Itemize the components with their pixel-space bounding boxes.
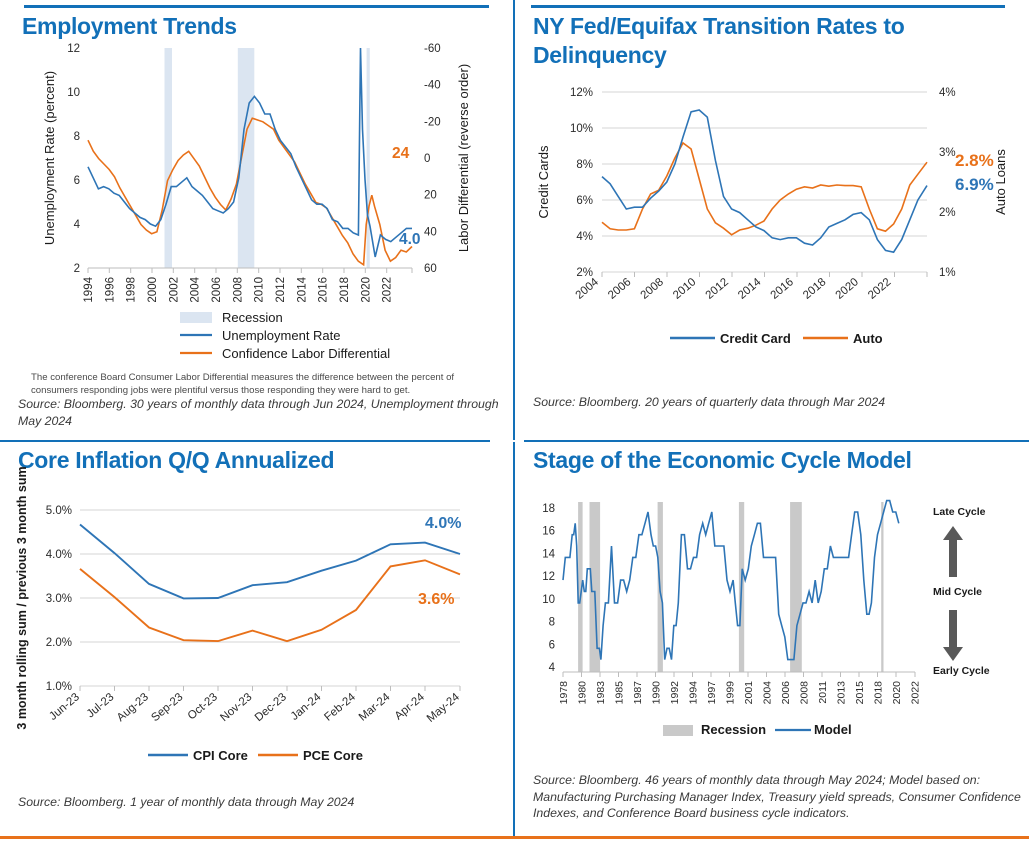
employment-footnote: The conference Board Consumer Labor Diff…: [31, 371, 491, 397]
delinquency-x-labels: 2004 2006 2008 2010 2012 2014 2016 2018 …: [574, 272, 927, 302]
svg-text:2020: 2020: [360, 277, 372, 303]
svg-text:2022: 2022: [382, 277, 394, 303]
cycle-stage-indicator: Late Cycle Mid Cycle Early Cycle: [933, 506, 990, 677]
svg-text:4%: 4%: [939, 87, 956, 99]
svg-text:2004: 2004: [574, 276, 602, 302]
svg-text:2012: 2012: [275, 277, 287, 303]
svg-text:1980: 1980: [577, 681, 589, 705]
svg-text:10%: 10%: [570, 123, 593, 135]
svg-text:40: 40: [424, 226, 437, 238]
svg-text:Nov-23: Nov-23: [218, 691, 254, 724]
svg-text:2004: 2004: [762, 681, 774, 705]
cycle-legend: Recession Model: [663, 722, 852, 737]
legend-label-confidence: Confidence Labor Differential: [222, 346, 390, 361]
employment-source: Source: Bloomberg. 30 years of monthly d…: [18, 396, 506, 429]
bottom-orange-rule: [0, 836, 1029, 839]
svg-text:Mar-24: Mar-24: [357, 691, 393, 724]
svg-text:18: 18: [542, 503, 555, 515]
svg-text:0: 0: [424, 153, 430, 165]
svg-text:1.0%: 1.0%: [46, 681, 72, 693]
svg-text:1994: 1994: [83, 276, 95, 302]
svg-text:2006: 2006: [780, 681, 792, 705]
svg-text:6%: 6%: [576, 195, 593, 207]
svg-text:1992: 1992: [669, 681, 681, 705]
cycle-left-axis: 18 16 14 12 10 8 6 4: [542, 503, 555, 674]
svg-text:2020: 2020: [891, 681, 903, 705]
inflation-callout-blue: 4.0%: [425, 515, 461, 532]
svg-text:2013: 2013: [836, 681, 848, 705]
legend-swatch-recession: [180, 312, 212, 323]
svg-text:Labor Differential (reverse or: Labor Differential (reverse order): [456, 64, 471, 252]
svg-text:1990: 1990: [651, 681, 663, 705]
svg-text:2022: 2022: [910, 681, 922, 705]
delinquency-left-axis: 12% 10% 8% 6% 4% 2% Credit Cards: [536, 87, 593, 279]
svg-text:4: 4: [549, 662, 556, 674]
svg-text:2015: 2015: [854, 681, 866, 705]
svg-text:2000: 2000: [147, 277, 159, 303]
svg-text:Jan-24: Jan-24: [289, 691, 324, 723]
delinquency-callout-orange: 2.8%: [955, 151, 994, 170]
delinquency-chart-svg: 12% 10% 8% 6% 4% 2% Credit Cards 4% 3% 2…: [515, 80, 1029, 380]
cycle-x-labels: 1978 1980 1983 1985 1987 1990 1992 1994 …: [558, 672, 922, 704]
employment-chart-svg: 12 10 8 6 4 2 Unemployment Rate (percent…: [0, 36, 513, 366]
svg-text:1998: 1998: [126, 277, 138, 303]
svg-text:2018: 2018: [873, 681, 885, 705]
infographic-sheet: Employment Trends 12 10 8 6 4 2 Unemplo: [0, 0, 1029, 843]
employment-x-labels: 1994 1996 1998 2000 2002 2004 2006 2008 …: [83, 276, 394, 302]
svg-text:12: 12: [67, 43, 80, 55]
svg-text:Auto Loans: Auto Loans: [993, 149, 1008, 215]
series-auto: [602, 143, 927, 235]
svg-text:Jul-23: Jul-23: [85, 691, 117, 720]
legend-label-cpi-core: CPI Core: [193, 748, 248, 763]
svg-text:2016: 2016: [318, 277, 330, 303]
svg-text:4.0%: 4.0%: [46, 549, 72, 561]
legend-label-recession: Recession: [222, 310, 283, 325]
legend-label-pce-core: PCE Core: [303, 748, 363, 763]
svg-text:2004: 2004: [190, 276, 202, 302]
employment-callout-blue: 4.0: [399, 231, 421, 248]
employment-recession-bands: [165, 48, 370, 268]
svg-text:1987: 1987: [632, 681, 644, 705]
svg-text:1994: 1994: [688, 681, 700, 705]
svg-text:May-24: May-24: [425, 691, 463, 725]
stage-label-late: Late Cycle: [933, 506, 986, 518]
svg-text:2020: 2020: [834, 276, 861, 302]
svg-text:1985: 1985: [614, 681, 626, 705]
legend-label-credit-card: Credit Card: [720, 331, 791, 346]
svg-text:10: 10: [542, 594, 555, 606]
svg-text:5.0%: 5.0%: [46, 505, 72, 517]
employment-chart: 12 10 8 6 4 2 Unemployment Rate (percent…: [0, 36, 513, 366]
svg-text:8: 8: [74, 131, 80, 143]
svg-text:Feb-24: Feb-24: [322, 691, 358, 724]
svg-text:1997: 1997: [706, 681, 718, 705]
series-cpi-core: [80, 525, 460, 599]
svg-text:2008: 2008: [232, 277, 244, 303]
svg-text:20: 20: [424, 190, 437, 202]
svg-text:1999: 1999: [725, 681, 737, 705]
svg-text:2.0%: 2.0%: [46, 637, 72, 649]
svg-text:2018: 2018: [339, 277, 351, 303]
svg-text:6: 6: [74, 175, 80, 187]
svg-text:2002: 2002: [168, 277, 180, 303]
employment-x-ticks: [88, 268, 412, 273]
employment-legend: Recession Unemployment Rate Confidence L…: [180, 310, 390, 361]
svg-text:1%: 1%: [939, 267, 956, 279]
panel-core-inflation: Core Inflation Q/Q Annualized 5.0% 4.0% …: [0, 442, 513, 836]
svg-text:3.0%: 3.0%: [46, 593, 72, 605]
legend-label-auto: Auto: [853, 331, 883, 346]
employment-left-axis: 12 10 8 6 4 2 Unemployment Rate (percent…: [42, 43, 81, 275]
svg-text:12%: 12%: [570, 87, 593, 99]
inflation-x-labels: Jun-23 Jul-23 Aug-23 Sep-23 Oct-23 Nov-2…: [47, 686, 462, 725]
inflation-left-axis: 5.0% 4.0% 3.0% 2.0% 1.0% 3 month rolling…: [15, 466, 72, 729]
delinquency-gridlines: [602, 92, 927, 272]
employment-right-axis: -60 -40 -20 0 20 40 60 Labor Differentia…: [424, 43, 471, 275]
legend-label-recession-cycle: Recession: [701, 722, 766, 737]
svg-text:2016: 2016: [769, 276, 796, 302]
svg-text:12: 12: [542, 571, 555, 583]
svg-text:4%: 4%: [576, 231, 593, 243]
inflation-source: Source: Bloomberg. 1 year of monthly dat…: [18, 794, 498, 811]
panel-economic-cycle: Stage of the Economic Cycle Model 18 16 …: [515, 442, 1029, 836]
svg-text:60: 60: [424, 263, 437, 275]
legend-label-unemployment: Unemployment Rate: [222, 328, 341, 343]
svg-text:3%: 3%: [939, 147, 956, 159]
svg-text:6: 6: [549, 639, 555, 651]
svg-text:Credit Cards: Credit Cards: [536, 145, 551, 218]
svg-text:2006: 2006: [606, 276, 633, 302]
svg-text:Dec-23: Dec-23: [253, 691, 289, 724]
stage-arrow-down: [943, 610, 963, 661]
svg-text:2018: 2018: [801, 276, 828, 302]
delinquency-title: NY Fed/Equifax Transition Rates to Delin…: [515, 8, 1029, 70]
delinquency-source: Source: Bloomberg. 20 years of quarterly…: [533, 394, 1013, 411]
svg-text:2010: 2010: [254, 277, 266, 303]
svg-text:Aug-23: Aug-23: [115, 691, 151, 724]
svg-text:-20: -20: [424, 116, 441, 128]
svg-text:2014: 2014: [296, 276, 308, 302]
svg-text:Jun-23: Jun-23: [47, 691, 82, 723]
delinquency-callout-blue: 6.9%: [955, 175, 994, 194]
legend-swatch-recession-cycle: [663, 725, 693, 736]
svg-text:1983: 1983: [595, 681, 607, 705]
employment-callout-orange: 24: [392, 145, 410, 162]
svg-text:8: 8: [549, 617, 555, 629]
cycle-chart-svg: 18 16 14 12 10 8 6 4: [515, 482, 1029, 742]
inflation-chart-svg: 5.0% 4.0% 3.0% 2.0% 1.0% 3 month rolling…: [0, 486, 513, 776]
cycle-source: Source: Bloomberg. 46 years of monthly d…: [533, 772, 1028, 822]
svg-text:2%: 2%: [939, 207, 956, 219]
svg-text:4: 4: [74, 219, 81, 231]
svg-text:Apr-24: Apr-24: [393, 691, 428, 723]
svg-text:1996: 1996: [104, 277, 116, 303]
svg-text:2022: 2022: [866, 276, 893, 302]
svg-text:2: 2: [74, 263, 80, 275]
svg-text:Sep-23: Sep-23: [149, 691, 185, 724]
svg-text:-60: -60: [424, 43, 441, 55]
svg-text:10: 10: [67, 87, 80, 99]
series-credit-card: [602, 110, 927, 252]
svg-text:8%: 8%: [576, 159, 593, 171]
stage-label-early: Early Cycle: [933, 665, 990, 677]
svg-text:2001: 2001: [743, 681, 755, 705]
svg-text:2012: 2012: [704, 276, 731, 302]
svg-text:2010: 2010: [671, 276, 698, 302]
svg-text:2008: 2008: [639, 276, 666, 302]
panel-delinquency: NY Fed/Equifax Transition Rates to Delin…: [515, 8, 1029, 440]
svg-text:2014: 2014: [736, 276, 764, 302]
legend-label-model: Model: [814, 722, 852, 737]
cycle-chart: 18 16 14 12 10 8 6 4: [515, 482, 1029, 742]
cycle-title: Stage of the Economic Cycle Model: [515, 442, 1029, 475]
inflation-chart: 5.0% 4.0% 3.0% 2.0% 1.0% 3 month rolling…: [0, 486, 513, 776]
svg-text:2011: 2011: [817, 681, 829, 704]
svg-text:2008: 2008: [799, 681, 811, 705]
panel-employment-trends: Employment Trends 12 10 8 6 4 2 Unemplo: [0, 8, 513, 440]
inflation-gridlines: [80, 510, 460, 686]
svg-text:2006: 2006: [211, 277, 223, 303]
svg-text:1978: 1978: [558, 681, 570, 705]
svg-text:16: 16: [542, 526, 555, 538]
series-model: [563, 501, 899, 660]
svg-text:14: 14: [542, 548, 555, 560]
svg-text:Unemployment Rate (percent): Unemployment Rate (percent): [42, 71, 57, 245]
stage-label-mid: Mid Cycle: [933, 586, 982, 598]
svg-text:3 month rolling sum / previous: 3 month rolling sum / previous 3 month s…: [15, 466, 29, 729]
svg-text:-40: -40: [424, 80, 441, 92]
svg-text:Oct-23: Oct-23: [186, 691, 220, 722]
inflation-title: Core Inflation Q/Q Annualized: [0, 442, 513, 475]
delinquency-legend: Credit Card Auto: [670, 331, 883, 346]
delinquency-chart: 12% 10% 8% 6% 4% 2% Credit Cards 4% 3% 2…: [515, 80, 1029, 380]
stage-arrow-up: [943, 526, 963, 577]
inflation-callout-orange: 3.6%: [418, 591, 454, 608]
inflation-legend: CPI Core PCE Core: [148, 748, 363, 763]
